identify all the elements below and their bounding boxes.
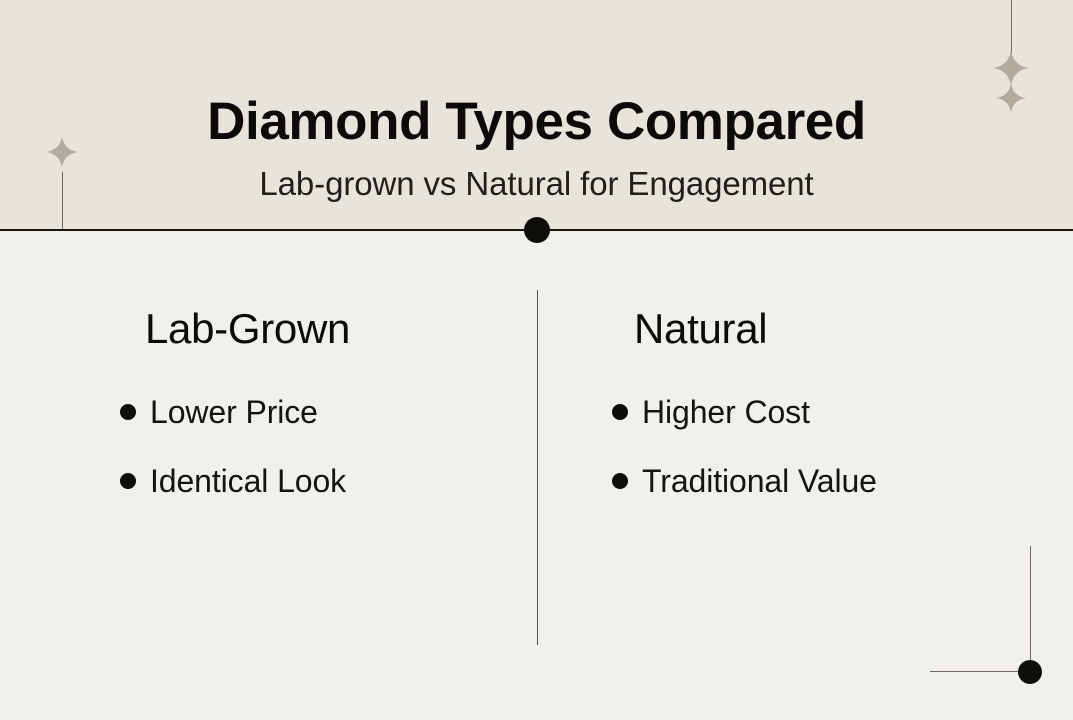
list-item: Higher Cost (612, 393, 1032, 431)
divider-node-dot-icon (524, 217, 550, 243)
comparison-column-natural: Natural Higher Cost Traditional Value (612, 305, 1032, 530)
sparkle-icon-top-right-upper (993, 50, 1029, 86)
list-item: Identical Look (120, 462, 520, 500)
header-band: Diamond Types Compared Lab-grown vs Natu… (0, 0, 1073, 229)
list-item-label: Lower Price (150, 393, 318, 431)
page-subtitle: Lab-grown vs Natural for Engagement (0, 164, 1073, 204)
bullet-list-lab-grown: Lower Price Identical Look (120, 393, 520, 500)
bullet-dot-icon (120, 404, 136, 420)
column-divider-rule (537, 290, 538, 645)
column-heading-lab-grown: Lab-Grown (120, 305, 520, 353)
sparkle-connector-line-top-right (1011, 0, 1012, 56)
bullet-dot-icon (120, 473, 136, 489)
bullet-list-natural: Higher Cost Traditional Value (612, 393, 1032, 500)
list-item-label: Higher Cost (642, 393, 810, 431)
page-title: Diamond Types Compared (0, 93, 1073, 150)
comparison-column-lab-grown: Lab-Grown Lower Price Identical Look (120, 305, 520, 530)
bullet-dot-icon (612, 404, 628, 420)
bullet-dot-icon (612, 473, 628, 489)
list-item-label: Identical Look (150, 462, 346, 500)
list-item-label: Traditional Value (642, 462, 877, 500)
accent-node-dot-icon (1018, 660, 1042, 684)
accent-line-vertical-bottom-right (1030, 546, 1031, 664)
list-item: Traditional Value (612, 462, 1032, 500)
column-heading-natural: Natural (612, 305, 1032, 353)
list-item: Lower Price (120, 393, 520, 431)
poster-canvas: Diamond Types Compared Lab-grown vs Natu… (0, 0, 1073, 720)
